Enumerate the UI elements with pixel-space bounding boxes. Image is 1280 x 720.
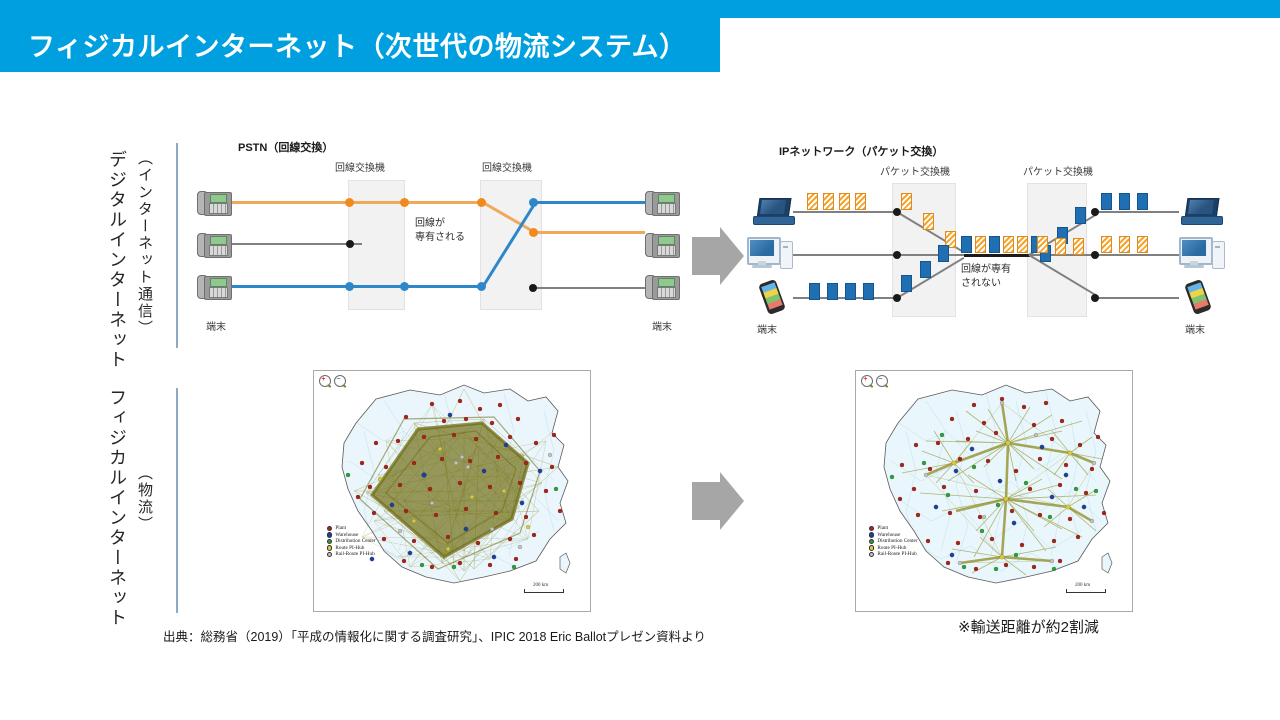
legend-label: Distribution Center — [877, 538, 917, 545]
source-note: 出典：総務省（2019）「平成の情報化に関する調査研究」、IPIC 2018 E… — [163, 626, 706, 645]
packet-blue — [901, 275, 912, 292]
phone-icon — [197, 272, 231, 300]
legend-swatch-warehouse — [869, 532, 874, 537]
ip-node-in-top — [893, 208, 901, 216]
ip-switch-label-2: パケット交換機 — [1023, 163, 1093, 178]
packet-blue — [1119, 193, 1130, 210]
ip-line-out-top — [1095, 211, 1179, 213]
ip-shared-trunk-line — [964, 254, 1030, 257]
pstn-terminal-label-left: 端末 — [206, 318, 226, 333]
ip-packet-switching-diagram: IPネットワーク（パケット交換） パケット交換機 パケット交換機 回線が専有 さ… — [765, 135, 1215, 350]
pstn-line-blue-out — [533, 201, 645, 204]
reduction-note: ※輸送距離が約2割減 — [958, 616, 1099, 637]
packet-blue — [1075, 207, 1086, 224]
packet-blue — [863, 283, 874, 300]
legend-swatch-plant — [327, 526, 332, 531]
pstn-circuit-switching-diagram: PSTN（回線交換） 回線交換機 回線交換機 回線が 専有される — [215, 135, 665, 350]
packet-blue — [938, 245, 949, 262]
pstn-diagram-title: PSTN（回線交換） — [238, 139, 333, 155]
pstn-node-blue-2 — [400, 282, 409, 291]
legend-item: Warehouse — [327, 532, 376, 539]
legend-item: Distribution Center — [327, 538, 376, 545]
legend-swatch-route-pi-hub — [327, 545, 332, 550]
ip-node-out-bot — [1091, 294, 1099, 302]
packet-orange — [975, 236, 986, 253]
ip-line-out-mid — [1095, 254, 1179, 256]
pstn-node-blue-3 — [477, 282, 486, 291]
laptop-icon — [1181, 197, 1221, 225]
transition-arrow-top — [690, 225, 746, 287]
map-scale-label: 200 km — [1075, 583, 1090, 588]
pstn-line-gray-idle — [232, 243, 362, 245]
ip-diagram-title: IPネットワーク（パケット交換） — [779, 143, 943, 159]
legend-label: Distribution Center — [335, 538, 375, 545]
pstn-switch-box-1 — [348, 180, 405, 310]
pstn-node-orange-3 — [477, 198, 486, 207]
pstn-node-orange-1 — [345, 198, 354, 207]
legend-item: Route PI-Hub — [327, 545, 376, 552]
map-legend-right: Plant Warehouse Distribution Center Rout… — [869, 525, 918, 558]
legend-swatch-route-pi-hub — [869, 545, 874, 550]
pstn-node-orange-4 — [529, 228, 538, 237]
row-sublabel-internet-communication: （インターネット通信） — [134, 150, 155, 350]
ip-line-in-top — [793, 211, 899, 213]
desktop-computer-icon — [747, 237, 793, 269]
pstn-terminal-label-right: 端末 — [652, 318, 672, 333]
row-label-digital-internet: デジタルインターネット — [104, 150, 130, 370]
desktop-computer-icon — [1179, 237, 1225, 269]
legend-swatch-distribution-center — [869, 539, 874, 544]
phone-icon — [645, 188, 679, 216]
slide-root: フィジカルインターネット（次世代の物流システム） デジタルインターネット （イン… — [0, 0, 1280, 720]
packet-orange — [839, 193, 850, 210]
pstn-line-blue-main — [232, 285, 480, 288]
ip-middle-note-line2: されない — [961, 278, 1001, 289]
packet-orange — [823, 193, 834, 210]
legend-item: Plant — [327, 525, 376, 532]
packet-blue — [920, 261, 931, 278]
row-sublabel-logistics: （物流） — [134, 465, 155, 555]
pstn-node-orange-2 — [400, 198, 409, 207]
packet-orange — [1055, 238, 1066, 255]
legend-swatch-rail-route-pi-hub — [327, 552, 332, 557]
packet-blue — [845, 283, 856, 300]
legend-label: Route PI-Hub — [877, 545, 906, 552]
pstn-middle-note-line1: 回線が — [415, 218, 445, 229]
legend-swatch-rail-route-pi-hub — [869, 552, 874, 557]
pstn-node-idle-right — [529, 284, 537, 292]
zoom-in-magnifier-icon[interactable]: + — [319, 375, 332, 388]
legend-item: Rail-Route PI-Hub — [869, 551, 918, 558]
legend-label: Plant — [335, 525, 346, 532]
page-title: フィジカルインターネット（次世代の物流システム） — [28, 18, 718, 70]
packet-orange — [807, 193, 818, 210]
packet-blue — [1101, 193, 1112, 210]
zoom-in-magnifier-icon[interactable]: + — [861, 375, 874, 388]
row-divider-bottom — [176, 388, 178, 613]
zoom-out-magnifier-icon[interactable]: − — [876, 375, 889, 388]
map-scale-label: 200 km — [533, 583, 548, 588]
pstn-middle-note: 回線が 専有される — [415, 217, 465, 244]
ip-node-out-mid — [1091, 251, 1099, 259]
ip-node-in-mid — [893, 251, 901, 259]
legend-item: Plant — [869, 525, 918, 532]
phone-icon — [197, 188, 231, 216]
pstn-node-idle-left — [346, 240, 354, 248]
legend-item: Route PI-Hub — [869, 545, 918, 552]
phone-icon — [645, 230, 679, 258]
ip-terminal-label-right: 端末 — [1185, 321, 1205, 336]
packet-orange — [1037, 236, 1048, 253]
packet-blue — [961, 236, 972, 253]
packet-orange — [855, 193, 866, 210]
legend-swatch-distribution-center — [327, 539, 332, 544]
legend-item: Warehouse — [869, 532, 918, 539]
map-after-physical-internet: + − Plant Warehouse Distribution Center … — [855, 370, 1133, 612]
map-before-physical-internet: + − Plant Warehouse Distribution Center … — [313, 370, 591, 612]
legend-label: Rail-Route PI-Hub — [877, 551, 916, 558]
pstn-switch-label-2: 回線交換機 — [482, 159, 532, 174]
zoom-out-magnifier-icon[interactable]: − — [334, 375, 347, 388]
row-divider-top — [176, 143, 178, 348]
packet-orange — [1073, 238, 1084, 255]
ip-middle-note: 回線が専有 されない — [961, 263, 1011, 290]
packet-orange — [1101, 236, 1112, 253]
pstn-line-gray-idle-right — [533, 287, 645, 289]
ip-line-out-bot — [1095, 297, 1179, 299]
legend-label: Plant — [877, 525, 888, 532]
ip-switch-label-1: パケット交換機 — [880, 163, 950, 178]
legend-label: Warehouse — [877, 532, 900, 539]
packet-orange — [1137, 236, 1148, 253]
packet-orange — [923, 213, 934, 230]
map-zoom-controls-left[interactable]: + − — [319, 375, 347, 388]
map-scale-bar-left: 200 km — [524, 589, 564, 593]
legend-label: Rail-Route PI-Hub — [335, 551, 374, 558]
pstn-node-blue-4 — [529, 198, 538, 207]
ip-terminal-label-left: 端末 — [757, 321, 777, 336]
packet-orange — [1119, 236, 1130, 253]
pstn-switch-label-1: 回線交換機 — [335, 159, 385, 174]
smartphone-icon — [759, 281, 785, 315]
smartphone-icon — [1185, 281, 1211, 315]
legend-label: Warehouse — [335, 532, 358, 539]
packet-orange — [901, 193, 912, 210]
ip-node-in-bot — [893, 294, 901, 302]
ip-middle-note-line1: 回線が専有 — [961, 264, 1011, 275]
map-scale-bar-right: 200 km — [1066, 589, 1106, 593]
ip-line-in-mid — [793, 254, 899, 256]
phone-icon — [197, 230, 231, 258]
ip-node-out-top — [1091, 208, 1099, 216]
legend-item: Distribution Center — [869, 538, 918, 545]
map-zoom-controls-right[interactable]: + − — [861, 375, 889, 388]
legend-label: Route PI-Hub — [335, 545, 364, 552]
packet-blue — [989, 236, 1000, 253]
transition-arrow-bottom — [690, 470, 746, 532]
pstn-line-orange-main — [232, 201, 480, 204]
pstn-middle-note-line2: 専有される — [415, 232, 465, 243]
row-label-physical-internet: フィジカルインターネット — [104, 388, 130, 638]
pstn-node-blue-1 — [345, 282, 354, 291]
packet-blue — [1137, 193, 1148, 210]
phone-icon — [645, 272, 679, 300]
legend-swatch-plant — [869, 526, 874, 531]
packet-orange — [1003, 236, 1014, 253]
legend-swatch-warehouse — [327, 532, 332, 537]
laptop-icon — [753, 197, 793, 225]
legend-item: Rail-Route PI-Hub — [327, 551, 376, 558]
packet-orange — [1017, 236, 1028, 253]
map-legend-left: Plant Warehouse Distribution Center Rout… — [327, 525, 376, 558]
packet-blue — [827, 283, 838, 300]
pstn-line-orange-out — [533, 231, 645, 234]
ip-line-converge-mid — [897, 254, 965, 256]
packet-blue — [809, 283, 820, 300]
